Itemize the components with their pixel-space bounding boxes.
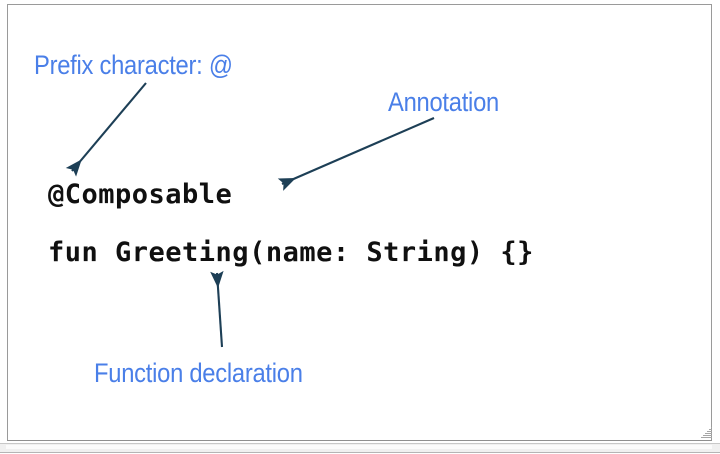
window-border-bottom bbox=[7, 440, 712, 441]
window-frame: Prefix character: @ Annotation Function … bbox=[0, 0, 720, 454]
slide-canvas: Prefix character: @ Annotation Function … bbox=[8, 5, 711, 440]
window-status-strip-inner bbox=[6, 445, 712, 449]
window-status-strip bbox=[0, 443, 720, 453]
arrow-to-annotation-icon bbox=[282, 118, 434, 184]
callout-label-function-declaration: Function declaration bbox=[94, 357, 303, 389]
resize-grip-icon[interactable] bbox=[698, 424, 712, 440]
arrow-to-function-declaration-icon bbox=[217, 273, 222, 347]
code-line-function-declaration: fun Greeting(name: String) {} bbox=[48, 236, 534, 270]
code-line-annotation: @Composable bbox=[48, 178, 232, 212]
arrow-to-prefix-icon bbox=[72, 83, 146, 171]
window-border-right bbox=[711, 4, 712, 441]
callout-label-annotation: Annotation bbox=[388, 86, 499, 118]
callout-label-prefix: Prefix character: @ bbox=[34, 49, 233, 81]
